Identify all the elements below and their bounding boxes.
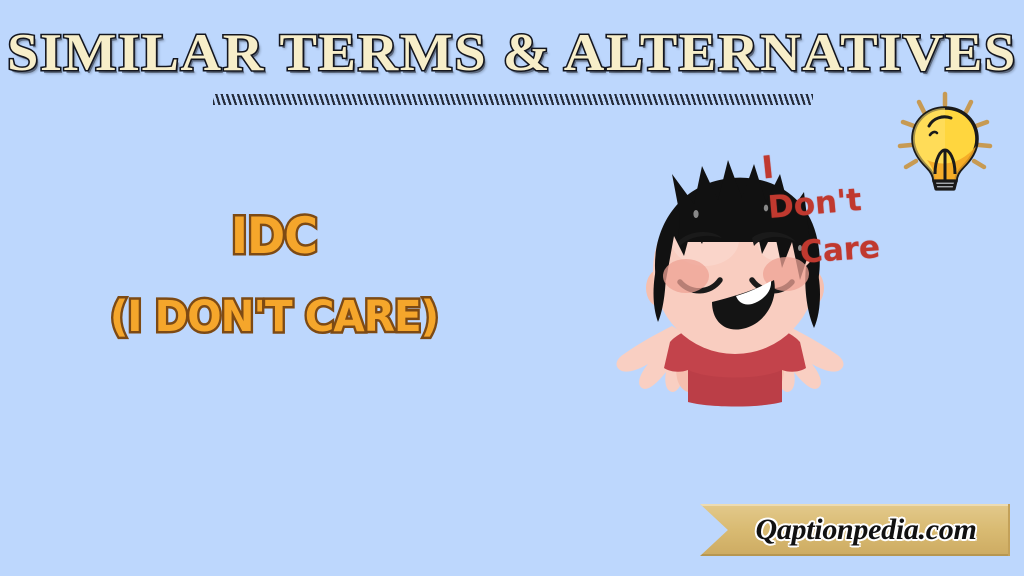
term-expansion: (I DON'T CARE) xyxy=(39,295,509,340)
lightbulb-icon xyxy=(893,88,997,192)
character-illustration xyxy=(560,130,910,430)
watermark-ribbon: Qaptionpedia.com xyxy=(700,504,1010,556)
term-abbreviation: IDC xyxy=(44,210,504,263)
left-cheek xyxy=(663,259,709,293)
title-divider xyxy=(213,94,813,105)
watermark-text: Qaptionpedia.com xyxy=(700,504,1010,556)
slide-canvas: SIMILAR TERMS & ALTERNATIVES IDC (I DON'… xyxy=(0,0,1024,576)
page-title: SIMILAR TERMS & ALTERNATIVES xyxy=(0,27,1024,80)
term-block: IDC (I DON'T CARE) xyxy=(24,210,524,340)
